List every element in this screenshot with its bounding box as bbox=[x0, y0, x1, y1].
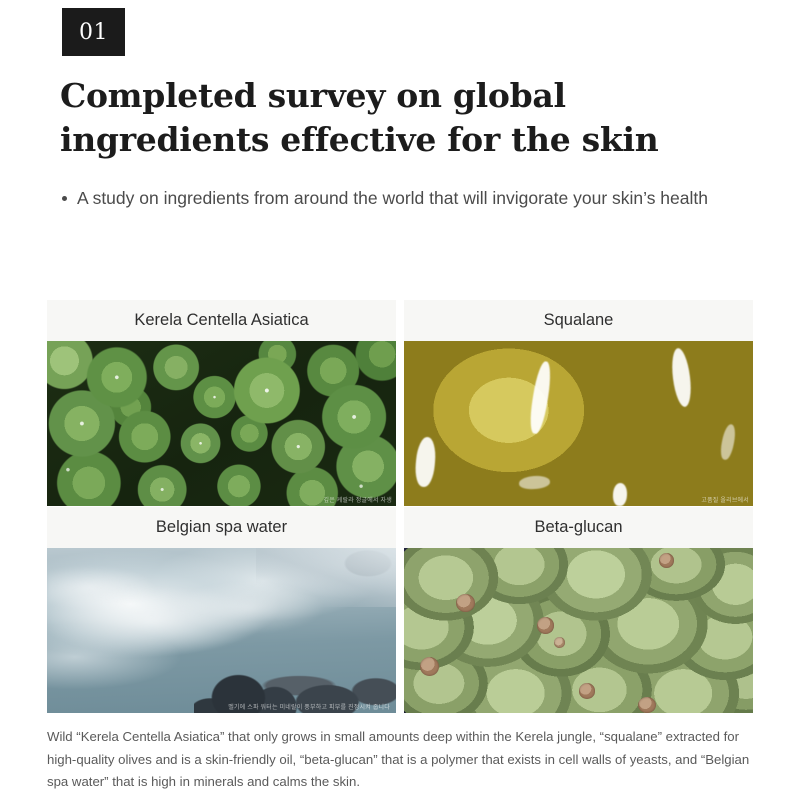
yeast-bud-scar bbox=[659, 553, 674, 568]
page-title: Completed survey on global ingredients e… bbox=[60, 74, 740, 162]
olive-highlight bbox=[718, 423, 737, 461]
olive-highlight bbox=[613, 483, 628, 506]
ingredient-card-caption: Belgian spa water bbox=[47, 507, 396, 548]
yeast-bud-scar bbox=[554, 637, 565, 648]
olive-highlight bbox=[519, 475, 551, 490]
green-olives-photo: 고품질 올리브에서 bbox=[404, 341, 753, 506]
ingredient-card-squalane: Squalane 고품질 올리브에서 bbox=[404, 300, 753, 506]
ingredient-card-caption: Squalane bbox=[404, 300, 753, 341]
yeast-bud-scar bbox=[537, 617, 554, 634]
image-watermark-text: 고품질 올리브에서 bbox=[701, 495, 749, 504]
ingredient-grid: Kerela Centella Asiatica 깊은 케랄라 정글에서 자생 … bbox=[47, 300, 753, 713]
spa-steam bbox=[47, 548, 396, 713]
ingredient-card-centella: Kerela Centella Asiatica 깊은 케랄라 정글에서 자생 bbox=[47, 300, 396, 506]
step-number-badge: 01 bbox=[62, 8, 125, 56]
yeast-bud-scar bbox=[420, 657, 440, 676]
olive-highlight bbox=[414, 436, 437, 487]
summary-bullet: A study on ingredients from around the w… bbox=[62, 185, 722, 213]
yeast-bud-scar bbox=[456, 594, 475, 612]
image-watermark-text: 깊은 케랄라 정글에서 자생 bbox=[323, 495, 392, 504]
centella-asiatica-leaves-photo: 깊은 케랄라 정글에서 자생 bbox=[47, 341, 396, 506]
ingredient-card-caption: Beta-glucan bbox=[404, 507, 753, 548]
ingredient-card-spa-water: Belgian spa water 벨기에 스파 워터는 미네랄이 풍부하고 피… bbox=[47, 507, 396, 713]
olive-highlight bbox=[669, 347, 694, 408]
ingredient-card-beta-glucan: Beta-glucan bbox=[404, 507, 753, 713]
ingredient-description-paragraph: Wild “Kerela Centella Asiatica” that onl… bbox=[47, 726, 753, 794]
ingredient-survey-page: 01 Completed survey on global ingredient… bbox=[0, 0, 800, 800]
summary-bullet-text: A study on ingredients from around the w… bbox=[77, 185, 708, 213]
yeast-bud-scar bbox=[638, 697, 656, 714]
ingredient-card-caption: Kerela Centella Asiatica bbox=[47, 300, 396, 341]
bullet-dot-icon bbox=[62, 196, 67, 201]
hot-spring-steam-photo: 벨기에 스파 워터는 미네랄이 풍부하고 피부를 진정시켜 줍니다 bbox=[47, 548, 396, 713]
yeast-cells-microscope-photo bbox=[404, 548, 753, 713]
yeast-bud-scar bbox=[579, 683, 596, 699]
olive-highlight bbox=[528, 360, 554, 434]
